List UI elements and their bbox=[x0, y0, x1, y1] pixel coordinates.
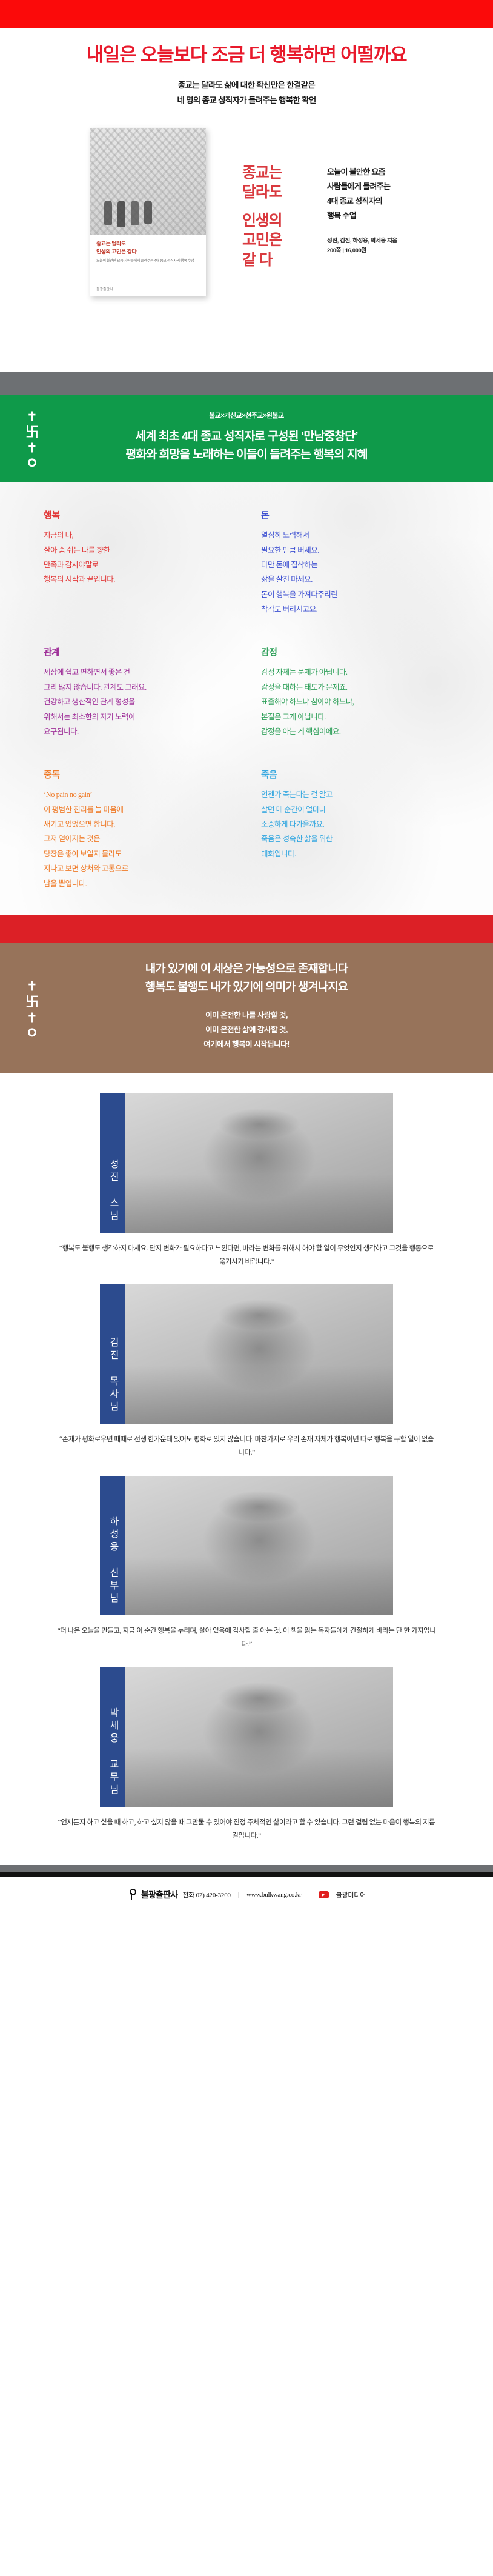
brown-banner-line-1: 내가 있기에 이 세상은 가능성으로 존재합니다 bbox=[0, 960, 493, 978]
topic-title: 돈 bbox=[261, 509, 449, 521]
topic-emotion: 감정 감정 자체는 문제가 아닙니다. 감정을 대하는 태도가 문제죠. 표출해… bbox=[247, 646, 449, 739]
person-quote: “더 나은 오늘을 만들고, 지금 이 순간 행복을 누리며, 살아 있음에 감… bbox=[56, 1625, 437, 1652]
person-name: 하성용 신부님 bbox=[105, 1516, 120, 1606]
footer-gray-bar bbox=[0, 1865, 493, 1872]
person-portrait bbox=[125, 1476, 393, 1615]
green-banner: ✝ 卐 ✝ 불교×개신교×천주교×원불교 세계 최초 4대 종교 성직자로 구성… bbox=[0, 395, 493, 482]
person-quote: “행복도 불행도 생각하지 마세요. 단지 변화가 필요하다고 느낀다면, 바라… bbox=[56, 1243, 437, 1269]
brown-sub-line-1: 이미 온전한 나를 사랑할 것, bbox=[0, 1008, 493, 1023]
footer-separator-2: | bbox=[309, 1891, 310, 1898]
book-authors: 성진, 김진, 하성용, 박세웅 지음 bbox=[327, 236, 493, 246]
cover-figures-illustration bbox=[104, 201, 152, 227]
subheadline-line-2: 네 명의 종교 성직자가 들려주는 행복한 확언 bbox=[0, 93, 493, 108]
manji-icon: 卐 bbox=[25, 995, 39, 1009]
topic-body: 세상에 쉽고 편하면서 좋은 건 그리 많지 않습니다. 관계도 그래요. 건강… bbox=[44, 665, 232, 739]
book-title-word-4: 고민은 bbox=[242, 230, 314, 250]
cover-title-line-1: 종교는 달라도 bbox=[96, 240, 199, 249]
book-title-word-3: 인생의 bbox=[242, 211, 314, 231]
brown-banner: ✝ 卐 ✝ 내가 있기에 이 세상은 가능성으로 존재합니다 행복도 불행도 내… bbox=[0, 943, 493, 1073]
footer-publisher-name: 불광출판사 bbox=[141, 1889, 177, 1901]
latin-cross-icon: ✝ bbox=[27, 441, 38, 455]
book-desc-line-4: 행복 수업 bbox=[327, 209, 493, 223]
topics-grid: 행복 지금의 나, 살아 숨 쉬는 나를 향한 만족과 감사야말로 행복의 시작… bbox=[0, 509, 493, 891]
topic-death: 죽음 언젠가 죽는다는 걸 알고 살면 매 순간이 얼마나 소중하게 다가올까요… bbox=[247, 768, 449, 891]
orthodox-cross-icon: ✝ bbox=[27, 979, 38, 993]
gray-divider-bar bbox=[0, 372, 493, 395]
book-desc-line-1: 오늘이 불안한 요즘 bbox=[327, 165, 493, 179]
book-hero: 종교는 달라도 인생의 고민은 같다 종교는 달라도 인생의 고민은 같다 오늘… bbox=[0, 117, 493, 372]
publisher-logo-icon bbox=[127, 1889, 136, 1900]
person-name-tab: 하성용 신부님 bbox=[100, 1476, 125, 1615]
brown-banner-line-2: 행복도 불행도 내가 있기에 의미가 생겨나지요 bbox=[0, 978, 493, 996]
green-banner-line-2: 평화와 희망을 노래하는 이들이 들려주는 행복의 지혜 bbox=[0, 445, 493, 464]
person-portrait bbox=[125, 1284, 393, 1424]
topic-body: 지금의 나, 살아 숨 쉬는 나를 향한 만족과 감사야말로 행복의 시작과 끝… bbox=[44, 528, 232, 587]
subheadline-line-1: 종교는 달라도 삶에 대한 확신만은 한결같은 bbox=[0, 78, 493, 93]
topic-relationship: 관계 세상에 쉽고 편하면서 좋은 건 그리 많지 않습니다. 관계도 그래요.… bbox=[44, 646, 247, 739]
cover-title-line-2: 인생의 고민은 같다 bbox=[96, 248, 199, 256]
book-title-word-5: 같 다 bbox=[242, 250, 314, 270]
page-subheadline: 종교는 달라도 삶에 대한 확신만은 한결같은 네 명의 종교 성직자가 들려주… bbox=[0, 78, 493, 108]
brown-banner-sub: 이미 온전한 나를 사랑할 것, 이미 온전한 삶에 감사할 것, 여기에서 행… bbox=[0, 1008, 493, 1052]
religion-symbols-group-2: ✝ 卐 ✝ bbox=[25, 979, 39, 1036]
footer-phone: 전화 02) 420-3200 bbox=[182, 1890, 231, 1900]
person-name-tab: 박세웅 교무님 bbox=[100, 1667, 125, 1807]
top-red-bar bbox=[0, 0, 493, 28]
book-title-word-2: 달라도 bbox=[242, 182, 314, 202]
footer-website-link[interactable]: www.bulkwang.co.kr bbox=[247, 1891, 302, 1898]
footer: 불광출판사 전화 02) 420-3200 | www.bulkwang.co.… bbox=[0, 1877, 493, 1919]
person-photo-row: 성진 스님 bbox=[0, 1093, 493, 1233]
won-circle-icon bbox=[28, 459, 36, 467]
promo-page: 내일은 오늘보다 조금 더 행복하면 어떨까요 종교는 달라도 삶에 대한 확신… bbox=[0, 0, 493, 1919]
person-photo-row: 하성용 신부님 bbox=[0, 1476, 493, 1615]
topic-body: 열심히 노력해서 필요한 만큼 버세요. 다만 돈에 집착하는 삶을 살진 마세… bbox=[261, 528, 449, 616]
person-name: 김진 목사님 bbox=[105, 1337, 120, 1414]
won-circle-icon bbox=[28, 1028, 36, 1036]
people-section: 성진 스님 “행복도 불행도 생각하지 마세요. 단지 변화가 필요하다고 느낀… bbox=[0, 1073, 493, 1865]
person-name-tab: 김진 목사님 bbox=[100, 1284, 125, 1424]
book-title-red: 종교는 달라도 인생의 고민은 같 다 bbox=[242, 163, 314, 270]
person-card: 김진 목사님 “존재가 평화로우면 때때로 전쟁 한가운데 있어도 평화로 있지… bbox=[0, 1284, 493, 1460]
person-name: 박세웅 교무님 bbox=[105, 1707, 120, 1797]
cover-subtitle: 오늘이 불안한 요즘 사람들에게 들려주는 4대 종교 성직자의 행복 수업 bbox=[96, 259, 199, 264]
book-desc-line-2: 사람들에게 들려주는 bbox=[327, 179, 493, 194]
book-cover-image: 종교는 달라도 인생의 고민은 같다 종교는 달라도 인생의 고민은 같다 오늘… bbox=[90, 128, 206, 296]
book-desc-line-3: 4대 종교 성직자의 bbox=[327, 194, 493, 209]
topic-title: 감정 bbox=[261, 646, 449, 658]
footer-separator-1: | bbox=[238, 1891, 239, 1898]
headline-block: 내일은 오늘보다 조금 더 행복하면 어떨까요 종교는 달라도 삶에 대한 확신… bbox=[0, 28, 493, 117]
topic-body: ‘No pain no gain’ 이 평범한 진리를 늘 마음에 새기고 있었… bbox=[44, 787, 232, 891]
topics-section: 행복 지금의 나, 살아 숨 쉬는 나를 향한 만족과 감사야말로 행복의 시작… bbox=[0, 482, 493, 915]
person-card: 박세웅 교무님 “언제든지 하고 싶을 때 하고, 하고 싶지 않을 때 그만둘… bbox=[0, 1667, 493, 1843]
topic-money: 돈 열심히 노력해서 필요한 만큼 버세요. 다만 돈에 집착하는 삶을 살진 … bbox=[247, 509, 449, 616]
person-name: 성진 스님 bbox=[105, 1159, 120, 1223]
topic-title: 중독 bbox=[44, 768, 232, 781]
brown-sub-line-3: 여기에서 행복이 시작됩니다! bbox=[0, 1037, 493, 1052]
topic-title: 관계 bbox=[44, 646, 232, 658]
person-photo-row: 김진 목사님 bbox=[0, 1284, 493, 1424]
book-cover-photo bbox=[90, 128, 206, 235]
book-info: 종교는 달라도 인생의 고민은 같 다 오늘이 불안한 요즘 사람들에게 들려주… bbox=[242, 128, 493, 270]
book-credits: 성진, 김진, 하성용, 박세웅 지음 200쪽 | 16,000원 bbox=[327, 236, 493, 256]
red-divider-strip bbox=[0, 915, 493, 943]
green-banner-eyebrow: 불교×개신교×천주교×원불교 bbox=[0, 410, 493, 420]
person-card: 성진 스님 “행복도 불행도 생각하지 마세요. 단지 변화가 필요하다고 느낀… bbox=[0, 1093, 493, 1269]
person-photo-row: 박세웅 교무님 bbox=[0, 1667, 493, 1807]
topic-happiness: 행복 지금의 나, 살아 숨 쉬는 나를 향한 만족과 감사야말로 행복의 시작… bbox=[44, 509, 247, 616]
latin-cross-icon: ✝ bbox=[27, 1010, 38, 1024]
person-name-tab: 성진 스님 bbox=[100, 1093, 125, 1233]
cover-publisher: 불광출판사 bbox=[96, 286, 113, 292]
book-description: 오늘이 불안한 요즘 사람들에게 들려주는 4대 종교 성직자의 행복 수업 bbox=[327, 165, 493, 223]
person-card: 하성용 신부님 “더 나은 오늘을 만들고, 지금 이 순간 행복을 누리며, … bbox=[0, 1476, 493, 1652]
green-banner-line-1: 세계 최초 4대 종교 성직자로 구성된 ‘만남중창단’ bbox=[0, 427, 493, 445]
religion-symbols-group: ✝ 卐 ✝ bbox=[25, 409, 39, 467]
page-headline: 내일은 오늘보다 조금 더 행복하면 어떨까요 bbox=[0, 44, 493, 67]
orthodox-cross-icon: ✝ bbox=[27, 409, 38, 423]
topic-title: 행복 bbox=[44, 509, 232, 521]
topic-addiction: 중독 ‘No pain no gain’ 이 평범한 진리를 늘 마음에 새기고… bbox=[44, 768, 247, 891]
topic-body: 감정 자체는 문제가 아닙니다. 감정을 대하는 태도가 문제죠. 표출해야 하… bbox=[261, 665, 449, 739]
manji-icon: 卐 bbox=[25, 425, 39, 439]
topic-body: 언젠가 죽는다는 걸 알고 살면 매 순간이 얼마나 소중하게 다가올까요. 죽… bbox=[261, 787, 449, 861]
book-cover-titlebar: 종교는 달라도 인생의 고민은 같다 오늘이 불안한 요즘 사람들에게 들려주는… bbox=[90, 235, 206, 296]
person-quote: “존재가 평화로우면 때때로 전쟁 한가운데 있어도 평화로 있지 않습니다. … bbox=[56, 1433, 437, 1460]
topic-title: 죽음 bbox=[261, 768, 449, 781]
book-spec: 200쪽 | 16,000원 bbox=[327, 246, 493, 256]
brown-sub-line-2: 이미 온전한 삶에 감사할 것, bbox=[0, 1023, 493, 1037]
person-quote: “언제든지 하고 싶을 때 하고, 하고 싶지 않을 때 그만둘 수 있어야 진… bbox=[56, 1817, 437, 1843]
youtube-play-icon[interactable]: ▶ bbox=[319, 1891, 329, 1898]
footer-black-bar bbox=[0, 1872, 493, 1877]
person-portrait bbox=[125, 1667, 393, 1807]
book-title-word-1: 종교는 bbox=[242, 163, 314, 183]
footer-youtube-label[interactable]: 불광미디어 bbox=[336, 1890, 366, 1900]
book-meta: 오늘이 불안한 요즘 사람들에게 들려주는 4대 종교 성직자의 행복 수업 성… bbox=[327, 163, 493, 270]
person-portrait bbox=[125, 1093, 393, 1233]
book-cover-wrapper: 종교는 달라도 인생의 고민은 같다 종교는 달라도 인생의 고민은 같다 오늘… bbox=[61, 128, 242, 296]
